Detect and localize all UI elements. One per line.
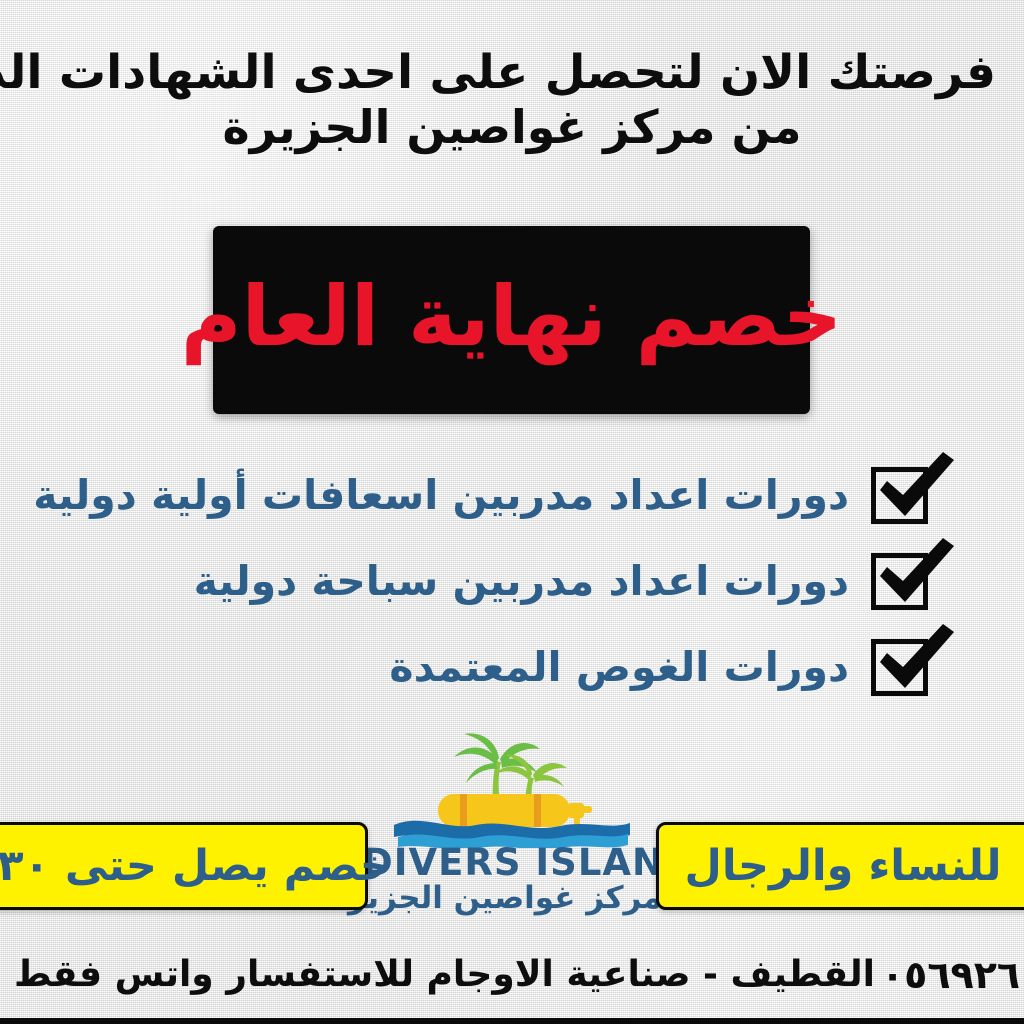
headline-line-1: فرصتك الان لتحصل على احدى الشهادات الدول… [28,46,996,101]
page-title: فرصتك الان لتحصل على احدى الشهادات الدول… [0,46,1024,154]
list-item-label: دورات اعداد مدربين سباحة دولية [120,561,849,602]
audience-badge-text: للنساء والرجال [685,845,1002,888]
audience-badge: للنساء والرجال [656,822,1024,910]
list-item: دورات الغوص المعتمدة [120,624,928,710]
contact-bar: القطيف - صناعية الاوجام للاستفسار واتس ف… [0,932,1024,1018]
checkbox-checked-icon [871,553,928,610]
list-item-label: دورات اعداد مدربين اسعافات أولية دولية [33,475,849,516]
discount-badge-text: خصم يصل حتى ٣٠٪ [0,845,391,888]
checkbox-checked-icon [871,467,928,524]
brand-logo: DIVERS ISLAND مركز غواصين الجزيرة [362,733,662,915]
discount-banner-text: خصم نهاية العام [181,275,843,358]
headline-line-2: من مركز غواصين الجزيرة [28,101,996,154]
contact-phone: ٠٥٦٩٢٦١٧٧٧ [881,956,1024,994]
bottom-divider [0,1018,1024,1024]
logo-wordmark-ar: مركز غواصين الجزيرة [362,882,662,915]
list-item: دورات اعداد مدربين سباحة دولية [120,538,928,624]
list-item: دورات اعداد مدربين اسعافات أولية دولية [120,452,928,538]
logo-wordmark-en: DIVERS ISLAND [362,844,662,881]
divers-island-logo-icon [392,733,632,848]
course-checklist: دورات اعداد مدربين اسعافات أولية دولية د… [0,452,1024,710]
discount-banner: خصم نهاية العام [213,226,810,414]
checkbox-checked-icon [871,639,928,696]
contact-address: القطيف - صناعية الاوجام للاستفسار واتس ف… [14,957,875,993]
list-item-label: دورات الغوص المعتمدة [120,647,849,688]
promo-poster: فرصتك الان لتحصل على احدى الشهادات الدول… [0,0,1024,1024]
discount-badge: خصم يصل حتى ٣٠٪ [0,822,368,910]
